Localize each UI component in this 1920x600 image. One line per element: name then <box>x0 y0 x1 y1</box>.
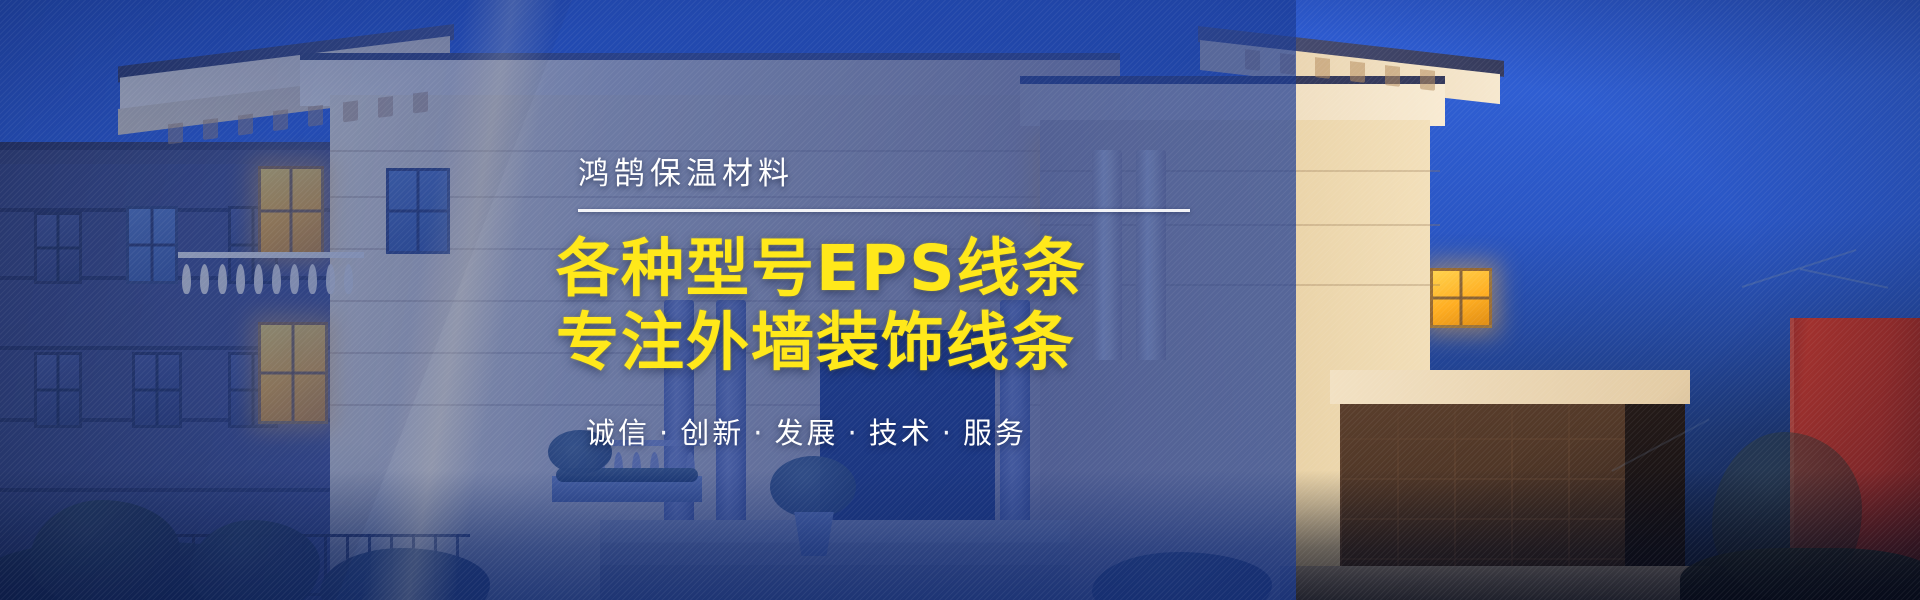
banner-copy: 鸿鹄保温材料 各种型号EPS线条 专注外墙装饰线条 诚信·创新·发展·技术·服务 <box>0 0 1190 600</box>
hero-banner: 鸿鹄保温材料 各种型号EPS线条 专注外墙装饰线条 诚信·创新·发展·技术·服务 <box>0 0 1920 600</box>
tagline-item: 诚信 <box>586 416 650 450</box>
tagline: 诚信·创新·发展·技术·服务 <box>586 410 1027 452</box>
tagline-item: 发展 <box>774 416 838 450</box>
brand-name: 鸿鹄保温材料 <box>578 148 794 193</box>
headline-line-2: 专注外墙装饰线条 <box>556 306 1087 380</box>
tagline-item: 创新 <box>680 416 744 450</box>
tagline-separator: · <box>942 416 954 450</box>
tagline-separator: · <box>659 416 671 450</box>
divider-rule <box>578 209 1190 212</box>
headline-line-1: 各种型号EPS线条 <box>556 232 1087 305</box>
tagline-item: 技术 <box>869 416 933 450</box>
tagline-separator: · <box>847 416 859 450</box>
headline: 各种型号EPS线条 专注外墙装饰线条 <box>556 232 1087 381</box>
tagline-separator: · <box>753 416 765 450</box>
tagline-item: 服务 <box>963 416 1027 450</box>
